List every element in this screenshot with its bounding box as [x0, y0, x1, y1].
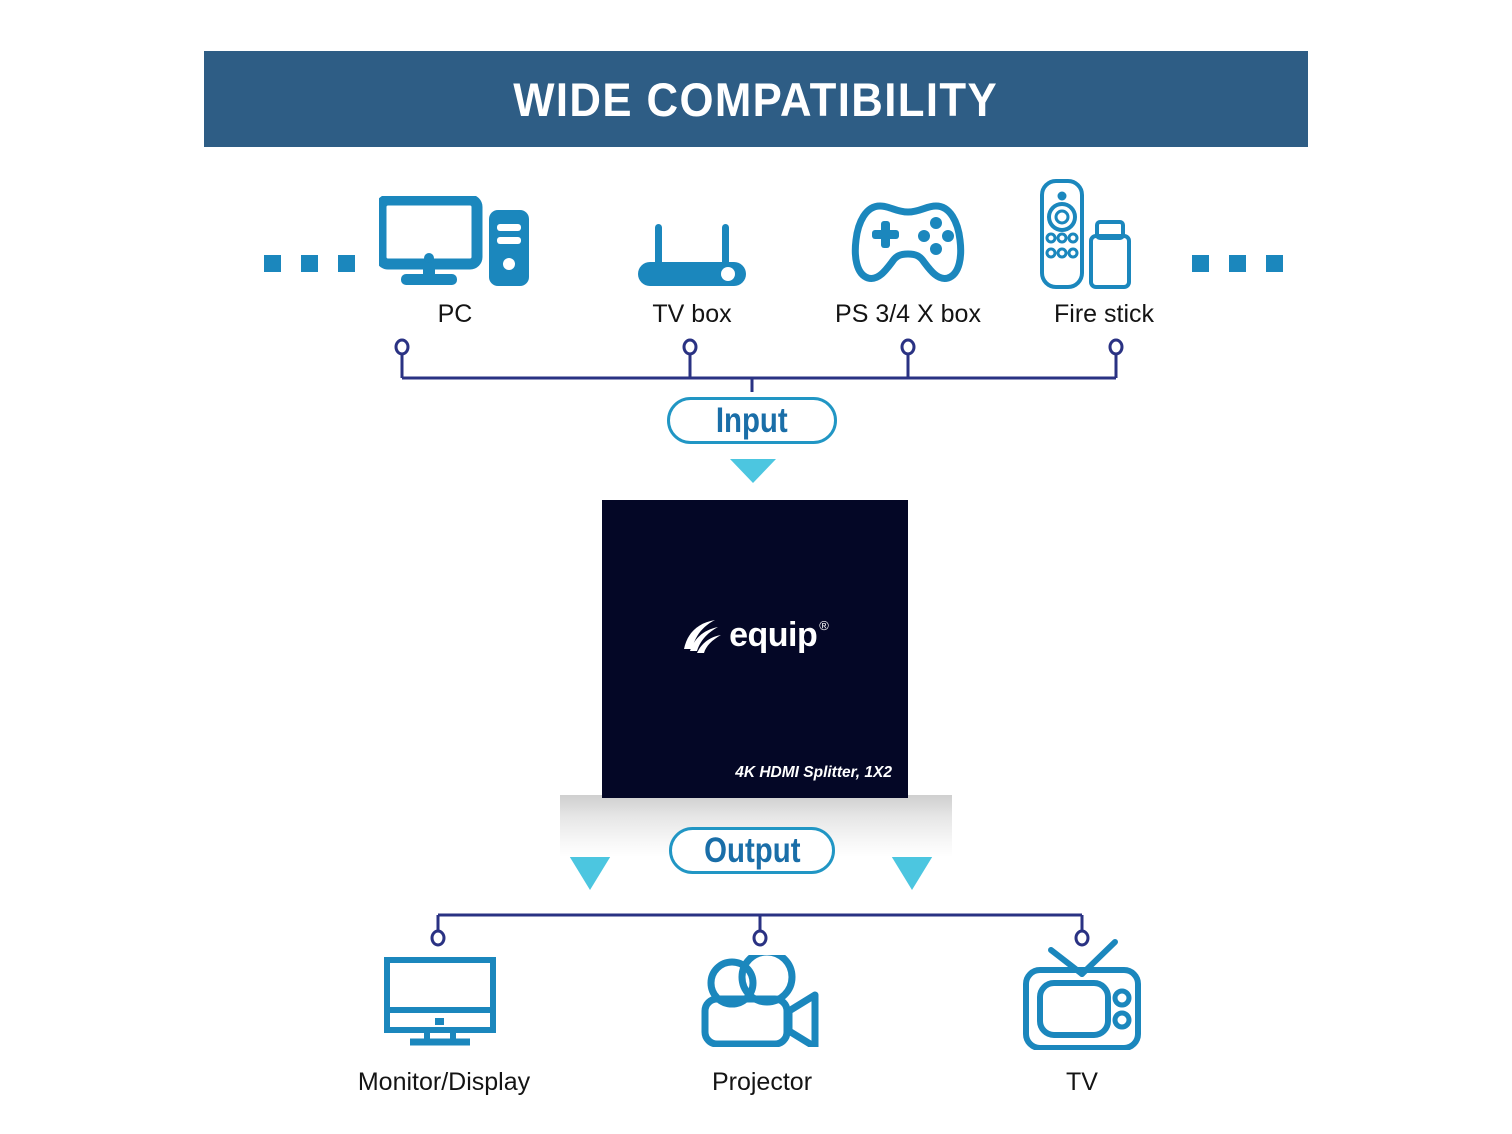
output-bus-terminals: [432, 931, 1088, 945]
input-bus-lines: [402, 352, 1116, 392]
input-pill-label: Input: [716, 401, 788, 441]
registered-trademark-icon: ®: [819, 619, 829, 632]
input-device-label-console: PS 3/4 X box: [835, 300, 981, 329]
input-pill: Input: [667, 397, 837, 444]
fire-stick-remote-icon: [1039, 178, 1135, 295]
ellipsis-dots-icon-right: [1192, 255, 1283, 272]
router-tv-box-icon: [636, 222, 748, 293]
monitor-display-icon: [384, 957, 496, 1052]
header-banner: WIDE COMPATIBILITY: [204, 51, 1308, 147]
input-bus-terminals: [396, 340, 1122, 354]
output-device-label-projector: Projector: [712, 1068, 812, 1097]
output-device-label-tv: TV: [1066, 1068, 1098, 1097]
output-pill-label: Output: [704, 831, 800, 871]
equip-swoosh-icon: [681, 618, 723, 656]
ellipsis-dots-icon-left: [264, 255, 355, 272]
input-device-label-fire-stick: Fire stick: [1054, 300, 1154, 329]
desktop-computer-icon: [379, 196, 531, 293]
retro-tv-icon: [1019, 928, 1145, 1055]
output-device-label-monitor: Monitor/Display: [358, 1068, 530, 1097]
input-arrow-icon: [730, 459, 776, 483]
equip-logo: equip ®: [602, 618, 908, 656]
equip-wordmark: equip: [729, 618, 817, 652]
compatibility-diagram-page: WIDE COMPATIBILITY: [0, 0, 1512, 1134]
output-pill: Output: [669, 827, 835, 874]
page-title: WIDE COMPATIBILITY: [514, 72, 999, 127]
hdmi-splitter-device: equip ® 4K HDMI Splitter, 1X2: [602, 500, 908, 798]
device-model-label: 4K HDMI Splitter, 1X2: [735, 764, 892, 782]
output-bus-lines: [438, 915, 1082, 931]
game-controller-icon: [848, 198, 968, 293]
input-device-label-tv-box: TV box: [652, 300, 731, 329]
input-device-label-pc: PC: [438, 300, 473, 329]
projector-camera-icon: [699, 955, 821, 1052]
